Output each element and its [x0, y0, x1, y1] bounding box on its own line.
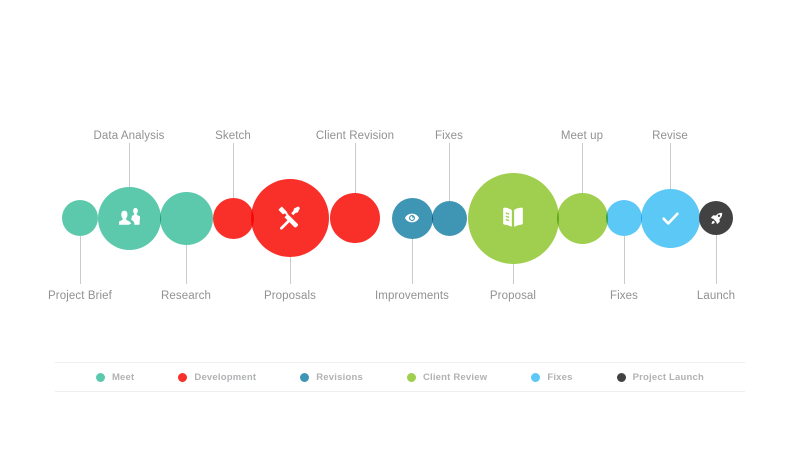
legend-item-fixes[interactable]: Fixes: [531, 372, 572, 383]
connector-tick-research: [186, 245, 187, 285]
connector-tick-data-analysis: [129, 143, 130, 187]
connector-tick-proposals: [290, 257, 291, 284]
node-label-proposal: Proposal: [490, 289, 536, 303]
legend-label: Fixes: [547, 372, 572, 383]
node-circle-fixes-1[interactable]: [432, 201, 467, 236]
node-label-improvements: Improvements: [375, 289, 449, 303]
legend-label: Client Review: [423, 372, 487, 383]
node-label-fixes-1: Fixes: [435, 129, 463, 143]
legend-item-development[interactable]: Development: [178, 372, 256, 383]
connector-tick-sketch: [233, 143, 234, 198]
node-circle-sketch[interactable]: [213, 198, 254, 239]
book-icon: [500, 205, 526, 231]
connector-tick-fixes-1: [449, 143, 450, 201]
node-label-data-analysis: Data Analysis: [94, 129, 165, 143]
legend-label: Revisions: [316, 372, 363, 383]
legend-item-meet[interactable]: Meet: [96, 372, 134, 383]
node-label-revise: Revise: [652, 129, 688, 143]
connector-tick-project-brief: [80, 236, 81, 284]
legend-label: Project Launch: [633, 372, 704, 383]
node-circle-research[interactable]: [160, 192, 213, 245]
node-circle-improvements[interactable]: [392, 198, 433, 239]
users-icon: [119, 208, 140, 229]
node-label-proposals: Proposals: [264, 289, 316, 303]
connector-tick-launch: [716, 235, 717, 284]
node-label-meet-up: Meet up: [561, 129, 603, 143]
legend-dot-icon: [96, 373, 105, 382]
connector-tick-proposal: [513, 264, 514, 285]
node-circle-meet-up[interactable]: [557, 193, 608, 244]
connector-tick-meet-up: [582, 143, 583, 193]
eye-icon: [405, 211, 419, 225]
node-label-fixes-2: Fixes: [610, 289, 638, 303]
legend-dot-icon: [178, 373, 187, 382]
legend: MeetDevelopmentRevisionsClient ReviewFix…: [55, 362, 745, 392]
node-circle-proposal[interactable]: [468, 173, 559, 264]
node-circle-revise[interactable]: [641, 189, 700, 248]
node-circle-proposals[interactable]: [251, 179, 329, 257]
rocket-icon: [710, 212, 723, 225]
node-label-project-brief: Project Brief: [48, 289, 112, 303]
node-circle-client-revision[interactable]: [330, 193, 380, 243]
connector-tick-fixes-2: [624, 236, 625, 284]
legend-label: Meet: [112, 372, 134, 383]
timeline-infographic: Project BriefData AnalysisResearchSketch…: [0, 0, 800, 450]
legend-dot-icon: [300, 373, 309, 382]
check-icon: [661, 209, 680, 228]
legend-item-revisions[interactable]: Revisions: [300, 372, 363, 383]
node-label-sketch: Sketch: [215, 129, 251, 143]
legend-item-client-review[interactable]: Client Review: [407, 372, 487, 383]
tools-icon: [277, 205, 303, 231]
node-circle-data-analysis[interactable]: [98, 187, 161, 250]
node-circle-launch[interactable]: [699, 201, 733, 235]
connector-tick-revise: [670, 143, 671, 189]
connector-tick-improvements: [412, 239, 413, 285]
legend-item-project-launch[interactable]: Project Launch: [617, 372, 704, 383]
legend-dot-icon: [531, 373, 540, 382]
connector-tick-client-revision: [355, 143, 356, 193]
node-label-client-revision: Client Revision: [316, 129, 394, 143]
legend-dot-icon: [407, 373, 416, 382]
node-label-research: Research: [161, 289, 211, 303]
node-circle-fixes-2[interactable]: [606, 200, 642, 236]
legend-dot-icon: [617, 373, 626, 382]
node-label-launch: Launch: [697, 289, 735, 303]
legend-label: Development: [194, 372, 256, 383]
node-circle-project-brief[interactable]: [62, 200, 98, 236]
